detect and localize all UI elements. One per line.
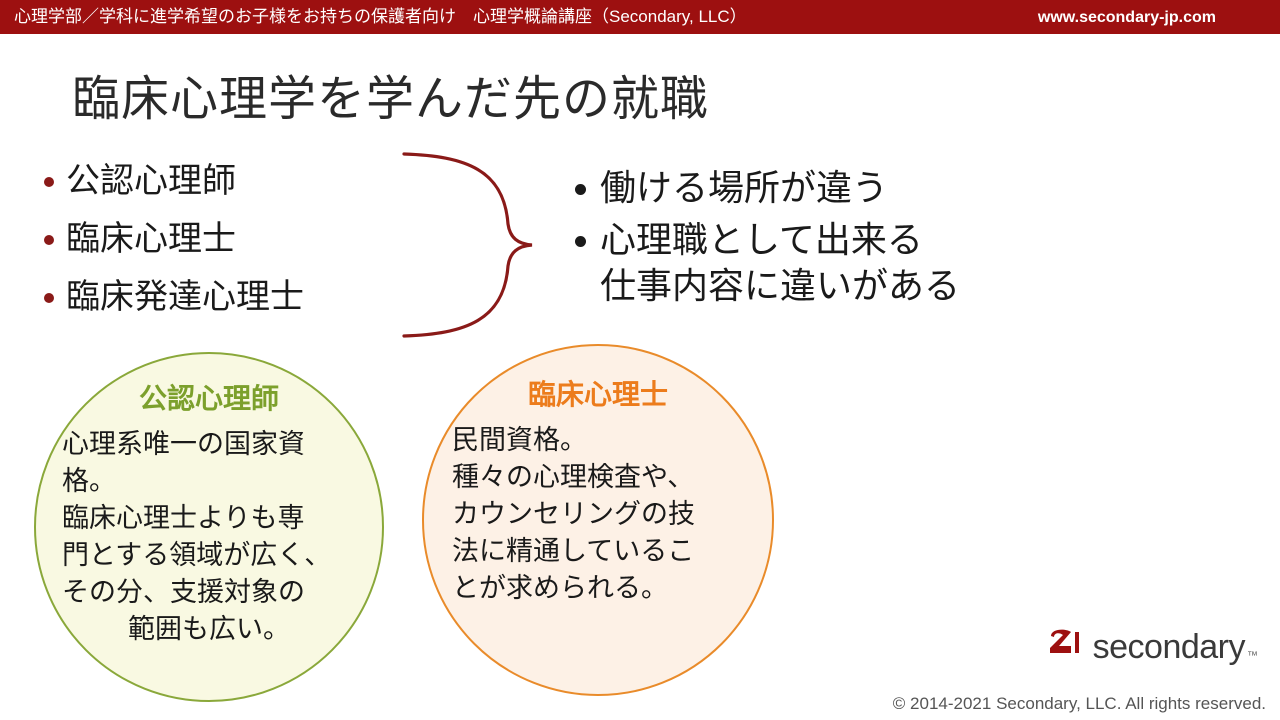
left-bullet-list: 公認心理師 臨床心理士 臨床発達心理士 <box>44 160 444 334</box>
list-item-label-line1: 心理職として出来る <box>600 217 960 263</box>
curly-brace-icon <box>396 150 556 340</box>
bullet-dot-icon <box>575 184 586 195</box>
circle-koninshinrishi: 公認心理師 心理系唯一の国家資 格。 臨床心理士よりも専 門とする領域が広く、 … <box>34 352 384 702</box>
bullet-dot-icon <box>44 177 54 187</box>
header-bar: 心理学部／学科に進学希望のお子様をお持ちの保護者向け 心理学概論講座（Secon… <box>0 0 1280 34</box>
circle-body-line: 門とする領域が広く、 <box>36 537 382 574</box>
list-item: 臨床発達心理士 <box>44 276 444 318</box>
list-item: 公認心理師 <box>44 160 444 202</box>
header-title: 心理学部／学科に進学希望のお子様をお持ちの保護者向け 心理学概論講座（Secon… <box>14 7 747 27</box>
circle-body: 民間資格。 種々の心理検査や、 カウンセリングの技 法に精通しているこ とが求め… <box>424 422 772 607</box>
copyright-text: © 2014-2021 Secondary, LLC. All rights r… <box>893 694 1266 714</box>
list-item-label: 働ける場所が違う <box>600 165 888 211</box>
circle-body-line: 臨床心理士よりも専 <box>36 500 382 537</box>
secondary-logo-text: secondary <box>1093 628 1245 666</box>
list-item-label-line2: 仕事内容に違いがある <box>600 263 960 309</box>
circle-body-line: 種々の心理検査や、 <box>424 459 772 496</box>
list-item-label: 臨床心理士 <box>66 218 236 260</box>
circle-body-line: 法に精通しているこ <box>424 533 772 570</box>
circle-body-line: 格。 <box>36 463 382 500</box>
trademark-symbol: ™ <box>1247 650 1258 668</box>
secondary-logo-mark-icon <box>1045 626 1087 668</box>
secondary-logo: secondary ™ <box>1045 626 1258 668</box>
list-item: 心理職として出来る 仕事内容に違いがある <box>575 217 1095 309</box>
right-bullet-list: 働ける場所が違う 心理職として出来る 仕事内容に違いがある <box>575 165 1095 315</box>
circle-body-line: 範囲も広い。 <box>36 611 382 648</box>
bullet-dot-icon <box>44 235 54 245</box>
bullet-dot-icon <box>575 236 586 247</box>
circle-body: 心理系唯一の国家資 格。 臨床心理士よりも専 門とする領域が広く、 その分、支援… <box>36 426 382 648</box>
list-item-label-group: 心理職として出来る 仕事内容に違いがある <box>600 217 960 309</box>
list-item: 働ける場所が違う <box>575 165 1095 211</box>
circle-body-line: 民間資格。 <box>424 422 772 459</box>
list-item: 臨床心理士 <box>44 218 444 260</box>
header-url: www.secondary-jp.com <box>1038 8 1216 27</box>
circle-body-line: カウンセリングの技 <box>424 496 772 533</box>
circle-title: 公認心理師 <box>36 382 382 416</box>
circle-body-line: とが求められる。 <box>424 570 772 607</box>
bullet-dot-icon <box>44 293 54 303</box>
circle-title: 臨床心理士 <box>424 378 772 412</box>
list-item-label: 臨床発達心理士 <box>66 276 304 318</box>
circle-rinshoshinrishi: 臨床心理士 民間資格。 種々の心理検査や、 カウンセリングの技 法に精通している… <box>422 344 774 696</box>
slide-heading: 臨床心理学を学んだ先の就職 <box>72 72 709 128</box>
list-item-label: 公認心理師 <box>66 160 236 202</box>
circle-body-line: 心理系唯一の国家資 <box>36 426 382 463</box>
circle-body-line: その分、支援対象の <box>36 574 382 611</box>
